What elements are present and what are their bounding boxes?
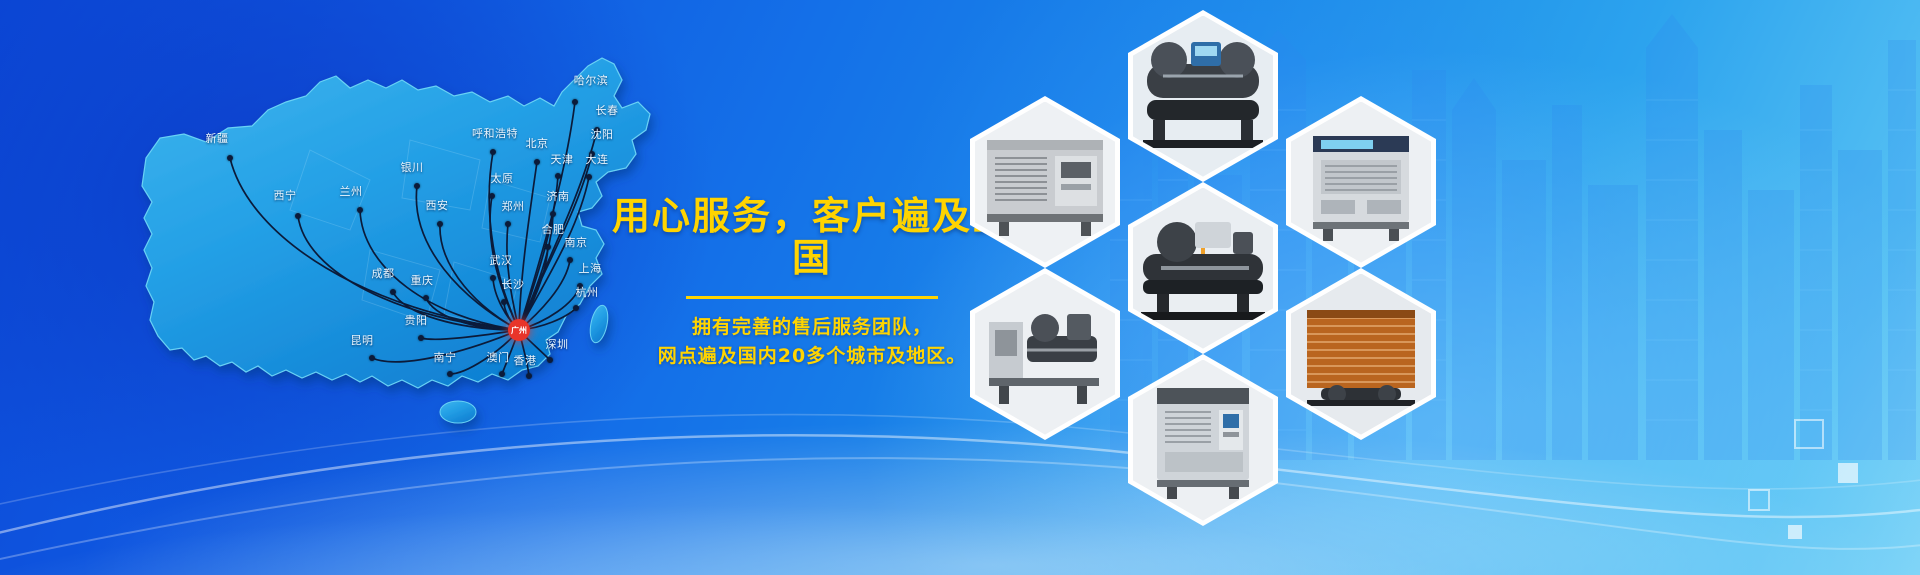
city-dot[interactable]: [369, 355, 375, 361]
city-dot[interactable]: [499, 371, 505, 377]
product-hex-industrial-air-chiller[interactable]: [1286, 96, 1436, 268]
city-dot[interactable]: [490, 275, 496, 281]
city-dot[interactable]: [447, 371, 453, 377]
city-dot[interactable]: [390, 289, 396, 295]
city-dot[interactable]: [573, 305, 579, 311]
decor-square-filled-1: [1838, 463, 1858, 483]
city-dot[interactable]: [357, 207, 363, 213]
product-hex-air-cooled-condenser[interactable]: [1286, 268, 1436, 440]
decor-square-filled-2: [1788, 525, 1802, 539]
banner-subtitle-line1: 拥有完善的售后服务团队，: [612, 313, 1012, 342]
screw-compressor-unit-icon: [1133, 188, 1273, 349]
cabinet-water-chiller-icon: [1133, 360, 1273, 521]
city-dot[interactable]: [547, 357, 553, 363]
air-cooled-box-chiller-icon: [975, 102, 1115, 263]
product-hex-screw-compressor-unit[interactable]: [1128, 182, 1278, 354]
decor-square-outline-2: [1748, 489, 1770, 511]
product-hex-cabinet-water-chiller[interactable]: [1128, 354, 1278, 526]
city-dot[interactable]: [589, 151, 595, 157]
city-dot[interactable]: [545, 244, 551, 250]
city-dot[interactable]: [489, 193, 495, 199]
product-hex-water-cooled-screw-chiller[interactable]: [1128, 10, 1278, 182]
city-dot[interactable]: [572, 99, 578, 105]
city-dot[interactable]: [526, 373, 532, 379]
hub-label: 广州: [508, 319, 530, 341]
condensing-unit-icon: [975, 274, 1115, 435]
city-dot[interactable]: [490, 149, 496, 155]
city-dot[interactable]: [534, 159, 540, 165]
headline-divider: [686, 296, 938, 299]
banner-subtitle-line2: 网点遍及国内20多个城市及地区。: [612, 342, 1012, 371]
city-dot[interactable]: [423, 295, 429, 301]
product-hex-condensing-unit[interactable]: [970, 268, 1120, 440]
city-dot[interactable]: [594, 127, 600, 133]
city-dot[interactable]: [414, 183, 420, 189]
product-hex-gallery: [960, 0, 1520, 470]
city-dot[interactable]: [437, 221, 443, 227]
city-dot[interactable]: [577, 283, 583, 289]
hub-marker-guangzhou[interactable]: 广州: [508, 319, 530, 341]
city-dot[interactable]: [567, 257, 573, 263]
city-dot[interactable]: [501, 299, 507, 305]
air-cooled-condenser-icon: [1291, 274, 1431, 435]
city-dot[interactable]: [550, 211, 556, 217]
promotional-banner: 哈尔滨长春沈阳呼和浩特北京天津大连银川太原新疆兰州西宁西安郑州济南合肥南京上海杭…: [0, 0, 1920, 575]
light-sweep-bottom: [0, 455, 1920, 575]
city-dot[interactable]: [418, 335, 424, 341]
city-dot[interactable]: [227, 155, 233, 161]
product-hex-air-cooled-box-chiller[interactable]: [970, 96, 1120, 268]
industrial-air-chiller-icon: [1291, 102, 1431, 263]
city-dot[interactable]: [295, 213, 301, 219]
water-cooled-screw-chiller-icon: [1133, 16, 1273, 177]
city-dot[interactable]: [586, 174, 592, 180]
decor-square-outline-1: [1794, 419, 1824, 449]
banner-headline: 用心服务，客户遍及全国: [612, 196, 1012, 280]
banner-copy: 用心服务，客户遍及全国 拥有完善的售后服务团队， 网点遍及国内20多个城市及地区…: [612, 196, 1012, 371]
city-dot[interactable]: [555, 173, 561, 179]
city-dot[interactable]: [505, 221, 511, 227]
